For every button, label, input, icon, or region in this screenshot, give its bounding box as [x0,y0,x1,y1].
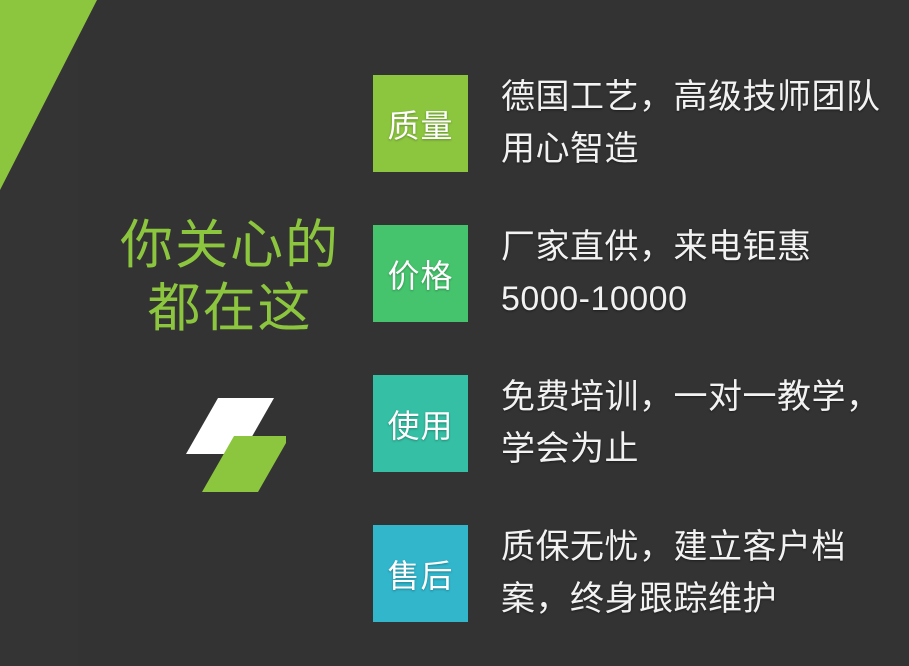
list-item: 价格 厂家直供，来电钜惠5000-10000 [373,225,893,375]
list-item: 使用 免费培训，一对一教学，学会为止 [373,375,893,525]
slide-root: 你关心的 都在这 质量 德国工艺，高级技师团队用心智造 价格 厂家直供，来电钜惠… [0,0,909,666]
status-badge: 价格 [373,225,468,322]
list-item-text: 免费培训，一对一教学，学会为止 [501,371,896,475]
brand-logo-icon [178,392,286,496]
status-badge: 质量 [373,75,468,172]
list-item-text: 德国工艺，高级技师团队用心智造 [501,71,896,175]
green-corner-wedge-icon [0,0,100,192]
status-badge: 售后 [373,525,468,622]
list-item: 质量 德国工艺，高级技师团队用心智造 [373,75,893,225]
list-item: 售后 质保无忧，建立客户档案，终身跟踪维护 [373,525,893,666]
feature-list: 质量 德国工艺，高级技师团队用心智造 价格 厂家直供，来电钜惠5000-1000… [373,75,893,666]
list-item-text: 质保无忧，建立客户档案，终身跟踪维护 [501,521,896,625]
list-item-text: 厂家直供，来电钜惠5000-10000 [501,221,896,325]
page-title: 你关心的 都在这 [60,214,400,340]
status-badge: 使用 [373,375,468,472]
